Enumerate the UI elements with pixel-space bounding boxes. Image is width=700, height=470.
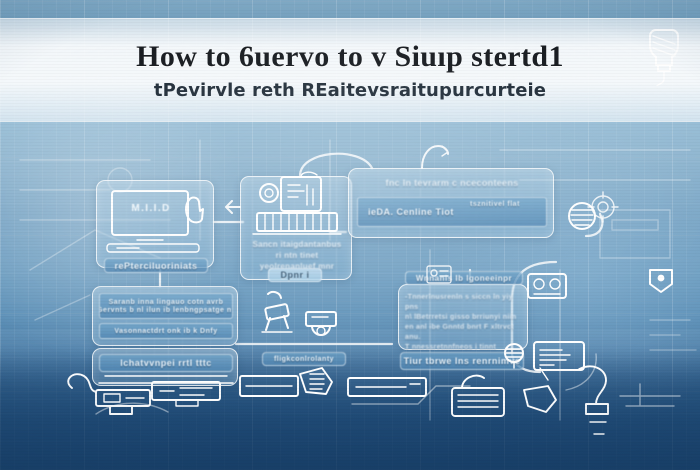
infographic-canvas: How to 6uervo to v Siuıp stertd1 tPevirv… [0, 0, 700, 470]
background-vignette [0, 0, 700, 470]
